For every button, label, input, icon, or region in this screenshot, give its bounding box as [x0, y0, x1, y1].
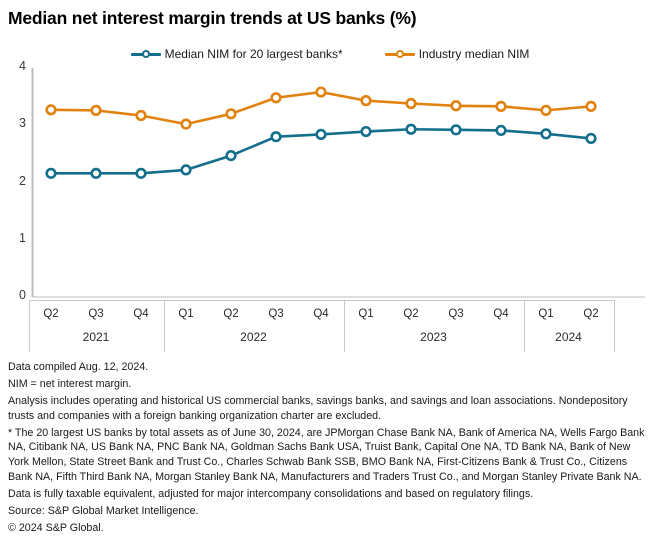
data-point[interactable] — [92, 106, 101, 115]
data-point[interactable] — [92, 169, 101, 178]
data-point[interactable] — [362, 96, 371, 105]
data-point[interactable] — [272, 93, 281, 102]
data-point[interactable] — [362, 127, 371, 136]
x-axis-quarter-label: Q4 — [481, 308, 521, 320]
data-point[interactable] — [452, 126, 461, 135]
x-axis-left-edge — [29, 300, 30, 352]
data-point[interactable] — [272, 132, 281, 141]
x-axis-quarter-label: Q3 — [256, 308, 296, 320]
footnote-line: NIM = net interest margin. — [8, 377, 654, 392]
x-axis-quarter-label: Q3 — [76, 308, 116, 320]
x-axis-quarter-label: Q2 — [31, 308, 71, 320]
x-axis-quarter-label: Q2 — [571, 308, 611, 320]
data-point[interactable] — [497, 126, 506, 135]
x-axis-quarter-label: Q2 — [391, 308, 431, 320]
y-axis-tick-label: 3 — [6, 116, 26, 130]
x-axis-quarter-label: Q4 — [121, 308, 161, 320]
legend-label-20-largest: Median NIM for 20 largest banks* — [165, 47, 343, 61]
x-axis-year-separator — [344, 300, 345, 352]
data-point[interactable] — [47, 169, 56, 178]
y-axis-tick-label: 1 — [6, 231, 26, 245]
title-text: Median net interest margin trends at US … — [8, 8, 385, 28]
data-point[interactable] — [407, 125, 416, 134]
x-axis-right-edge — [614, 300, 615, 352]
x-axis-quarter-label: Q1 — [346, 308, 386, 320]
data-point[interactable] — [317, 130, 326, 139]
legend-label-industry-median: Industry median NIM — [419, 47, 530, 61]
x-axis-quarter-label: Q2 — [211, 308, 251, 320]
legend-marker-orange-icon — [385, 48, 415, 60]
data-point[interactable] — [542, 106, 551, 115]
legend-item-20-largest[interactable]: Median NIM for 20 largest banks* — [131, 47, 343, 61]
data-point[interactable] — [317, 88, 326, 97]
footnote-line: Source: S&P Global Market Intelligence. — [8, 504, 654, 519]
footnote-line: Data compiled Aug. 12, 2024. — [8, 360, 654, 375]
data-point[interactable] — [182, 166, 191, 175]
y-axis-tick-label: 4 — [6, 59, 26, 73]
x-axis-year-label: 2022 — [214, 330, 294, 344]
data-point[interactable] — [47, 105, 56, 114]
title-unit: (%) — [390, 8, 417, 28]
page-title: Median net interest margin trends at US … — [8, 8, 416, 29]
data-point[interactable] — [227, 110, 236, 119]
data-point[interactable] — [497, 102, 506, 111]
data-point[interactable] — [182, 120, 191, 129]
data-point[interactable] — [137, 169, 146, 178]
x-axis-quarter-label: Q1 — [166, 308, 206, 320]
data-point[interactable] — [542, 130, 551, 139]
footnote-line: Data is fully taxable equivalent, adjust… — [8, 487, 654, 502]
footnote-line: Analysis includes operating and historic… — [8, 394, 654, 423]
x-axis-year-label: 2024 — [529, 330, 609, 344]
data-point[interactable] — [137, 111, 146, 120]
data-point[interactable] — [227, 151, 236, 160]
x-axis-year-separator — [164, 300, 165, 352]
footnote-line: * The 20 largest US banks by total asset… — [8, 426, 654, 484]
x-axis-year-separator — [524, 300, 525, 352]
x-axis-year-label: 2021 — [56, 330, 136, 344]
data-point[interactable] — [407, 99, 416, 108]
data-point[interactable] — [587, 134, 596, 143]
x-axis-quarter-label: Q4 — [301, 308, 341, 320]
x-axis-quarter-label: Q1 — [526, 308, 566, 320]
data-point[interactable] — [587, 102, 596, 111]
x-axis-year-label: 2023 — [394, 330, 474, 344]
legend-marker-teal-icon — [131, 48, 161, 60]
footnote-copyright: © 2024 S&P Global. — [8, 521, 654, 536]
legend-item-industry-median[interactable]: Industry median NIM — [385, 47, 530, 61]
data-point[interactable] — [452, 101, 461, 110]
x-axis-quarter-label: Q3 — [436, 308, 476, 320]
x-axis-top-rule — [29, 300, 614, 301]
x-axis: Q2Q3Q4Q1Q2Q3Q4Q1Q2Q3Q4Q1Q220212022202320… — [0, 300, 660, 356]
y-axis-tick-label: 2 — [6, 174, 26, 188]
footnotes: Data compiled Aug. 12, 2024. NIM = net i… — [8, 360, 654, 538]
